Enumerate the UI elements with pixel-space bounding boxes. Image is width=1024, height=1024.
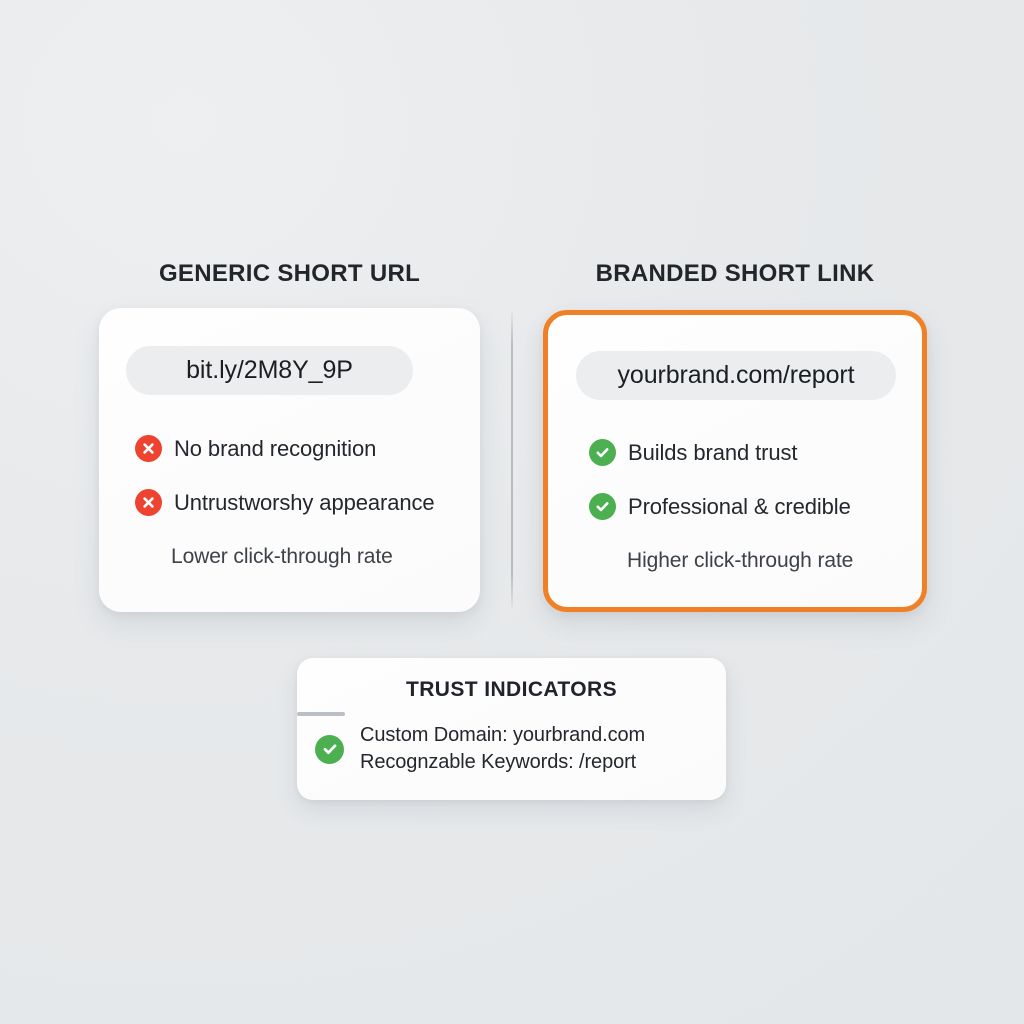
x-circle-icon — [135, 435, 162, 462]
check-circle-icon — [589, 439, 616, 466]
column-divider — [511, 312, 513, 608]
check-circle-icon — [315, 735, 344, 764]
branded-feature-label: Professional & credible — [628, 494, 851, 520]
branded-url-pill[interactable]: yourbrand.com/report — [576, 351, 896, 400]
branded-feature-row: Professional & credible — [589, 493, 851, 520]
trust-title-divider — [297, 712, 345, 716]
x-circle-icon — [135, 489, 162, 516]
branded-feature-label: Builds brand trust — [628, 440, 797, 466]
trust-indicator-line: Custom Domain: yourbrand.com — [360, 724, 645, 747]
generic-feature-row: Untrustworshy appearance — [135, 489, 435, 516]
trust-indicator-line: Recognzable Keywords: /report — [360, 751, 645, 774]
generic-feature-label: Untrustworshy appearance — [174, 490, 435, 516]
trust-indicators-body: Custom Domain: yourbrand.com Recognzable… — [315, 724, 645, 774]
generic-outcome-note: Lower click-through rate — [171, 545, 393, 569]
branded-short-link-card: yourbrand.com/report Builds brand trust … — [543, 310, 927, 612]
generic-column-heading: GENERIC SHORT URL — [99, 260, 480, 288]
branded-outcome-note: Higher click-through rate — [627, 549, 853, 573]
generic-short-url-card: bit.ly/2M8Y_9P No brand recognition Untr… — [99, 308, 480, 612]
generic-feature-row: No brand recognition — [135, 435, 376, 462]
trust-indicators-card: TRUST INDICATORS Custom Domain: yourbran… — [297, 658, 726, 800]
check-circle-icon — [589, 493, 616, 520]
generic-feature-label: No brand recognition — [174, 436, 376, 462]
trust-indicators-title: TRUST INDICATORS — [297, 678, 726, 702]
generic-url-pill[interactable]: bit.ly/2M8Y_9P — [126, 346, 413, 395]
branded-feature-row: Builds brand trust — [589, 439, 797, 466]
trust-indicator-list: Custom Domain: yourbrand.com Recognzable… — [360, 724, 645, 774]
branded-column-heading: BRANDED SHORT LINK — [543, 260, 927, 288]
diagram-canvas: GENERIC SHORT URL BRANDED SHORT LINK bit… — [0, 0, 1024, 1024]
